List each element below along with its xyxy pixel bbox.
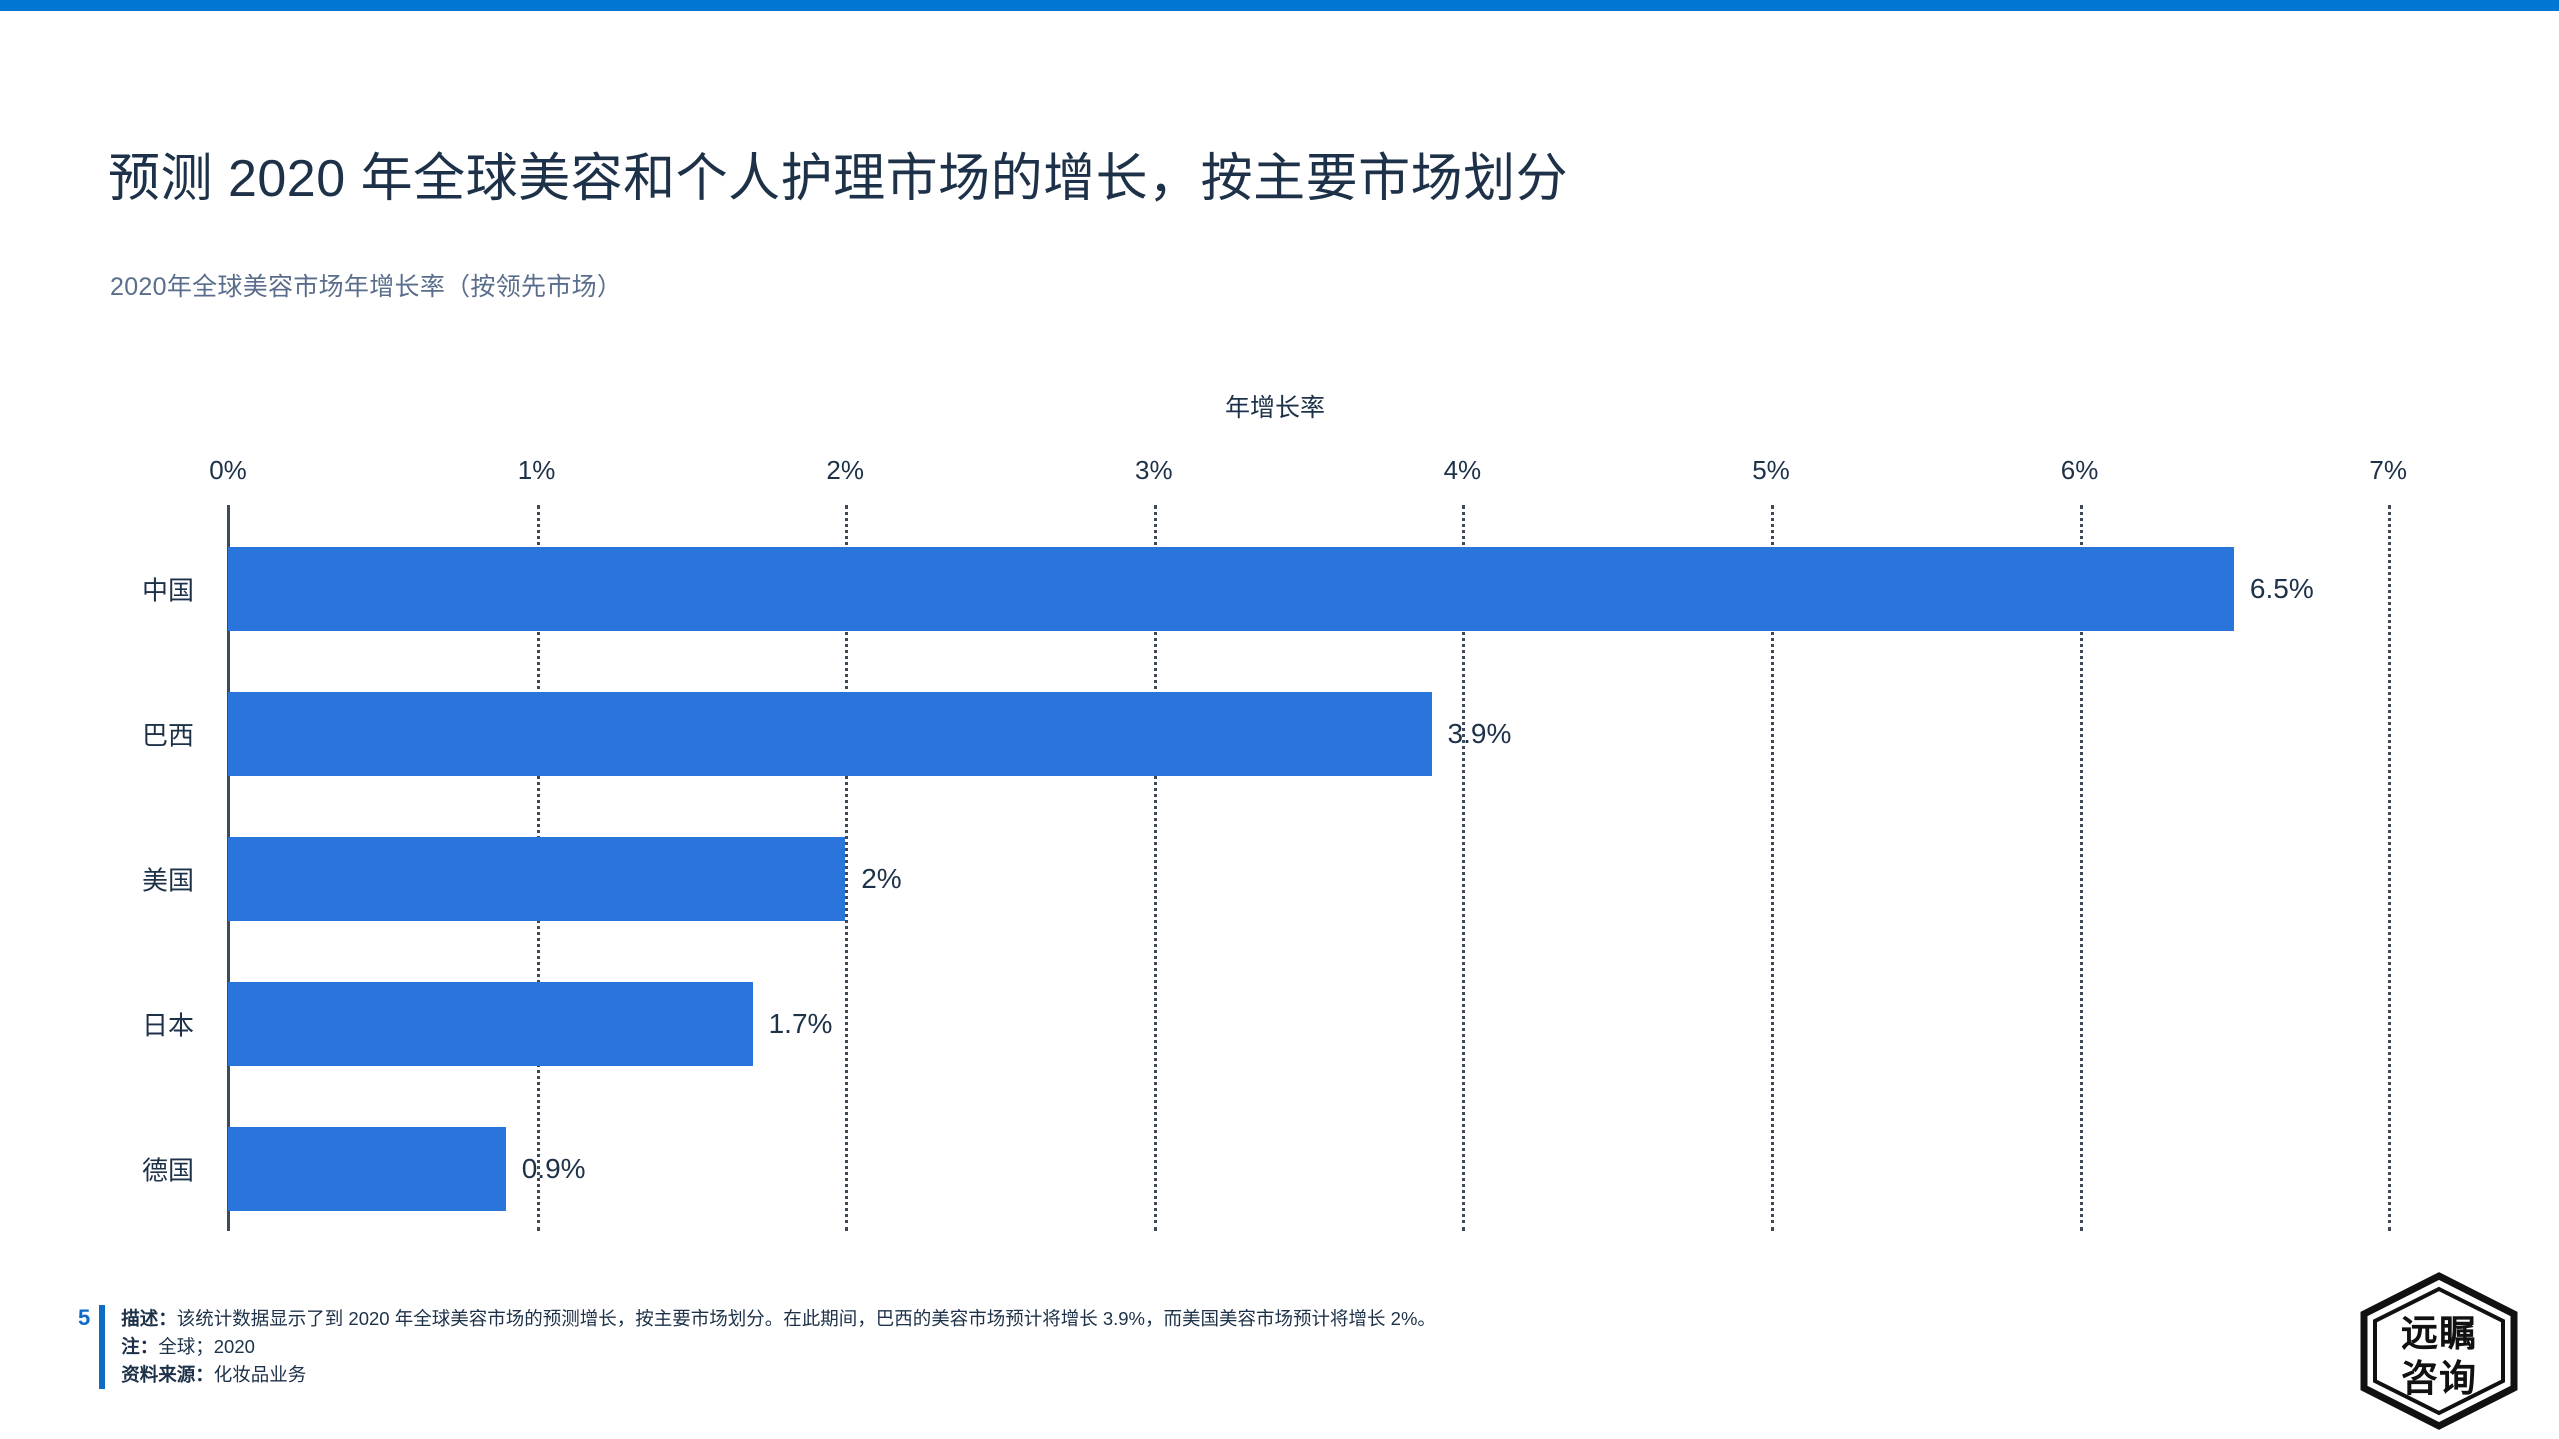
logo-text-bottom: 咨询 [2356,1348,2522,1402]
bar[interactable] [228,692,1432,776]
category-label: 日本 [142,1006,194,1043]
x-axis-title: 年增长率 [1225,388,1325,424]
x-tick-label: 4% [1444,455,1482,486]
bar-value-label: 6.5% [2250,573,2314,605]
x-tick-label: 7% [2369,455,2407,486]
category-label: 美国 [142,861,194,898]
bar-value-label: 1.7% [769,1008,833,1040]
footer-source-label: 资料来源： [121,1364,214,1385]
footer-note-text: 全球；2020 [158,1336,255,1357]
footer-source-line: 资料来源：化妆品业务 [121,1361,1436,1389]
bar[interactable] [228,982,753,1066]
footer-note-label: 注： [121,1336,158,1357]
bar-value-label: 0.9% [522,1153,586,1185]
x-tick-label: 3% [1135,455,1173,486]
x-tick-label: 0% [209,455,247,486]
category-label: 巴西 [142,716,194,753]
footer-rule [99,1305,105,1389]
x-tick-label: 5% [1752,455,1790,486]
page-number: 5 [78,1305,90,1329]
x-tick-label: 6% [2061,455,2099,486]
bar-chart: 年增长率 0%1%2%3%4%5%6%7% 中国6.5%巴西3.9%美国2%日本… [0,0,2559,1439]
x-tick-label: 2% [826,455,864,486]
footer-description-text: 该统计数据显示了到 2020 年全球美容市场的预测增长，按主要市场划分。在此期间… [177,1308,1436,1329]
gridline [2388,505,2391,1231]
category-label: 德国 [142,1151,194,1188]
category-label: 中国 [142,571,194,608]
footer: 5 描述：该统计数据显示了到 2020 年全球美容市场的预测增长，按主要市场划分… [78,1305,1436,1389]
bar-value-label: 3.9% [1448,718,1512,750]
x-tick-label: 1% [518,455,556,486]
footer-text: 描述：该统计数据显示了到 2020 年全球美容市场的预测增长，按主要市场划分。在… [121,1305,1436,1389]
footer-description-label: 描述： [121,1308,177,1329]
company-logo: 远瞩 咨询 [2356,1272,2522,1430]
bar-value-label: 2% [861,863,901,895]
footer-description-line: 描述：该统计数据显示了到 2020 年全球美容市场的预测增长，按主要市场划分。在… [121,1305,1436,1333]
footer-source-text: 化妆品业务 [214,1364,307,1385]
footer-note-line: 注：全球；2020 [121,1333,1436,1361]
bar[interactable] [228,547,2234,631]
bar[interactable] [228,1127,506,1211]
bar[interactable] [228,837,845,921]
